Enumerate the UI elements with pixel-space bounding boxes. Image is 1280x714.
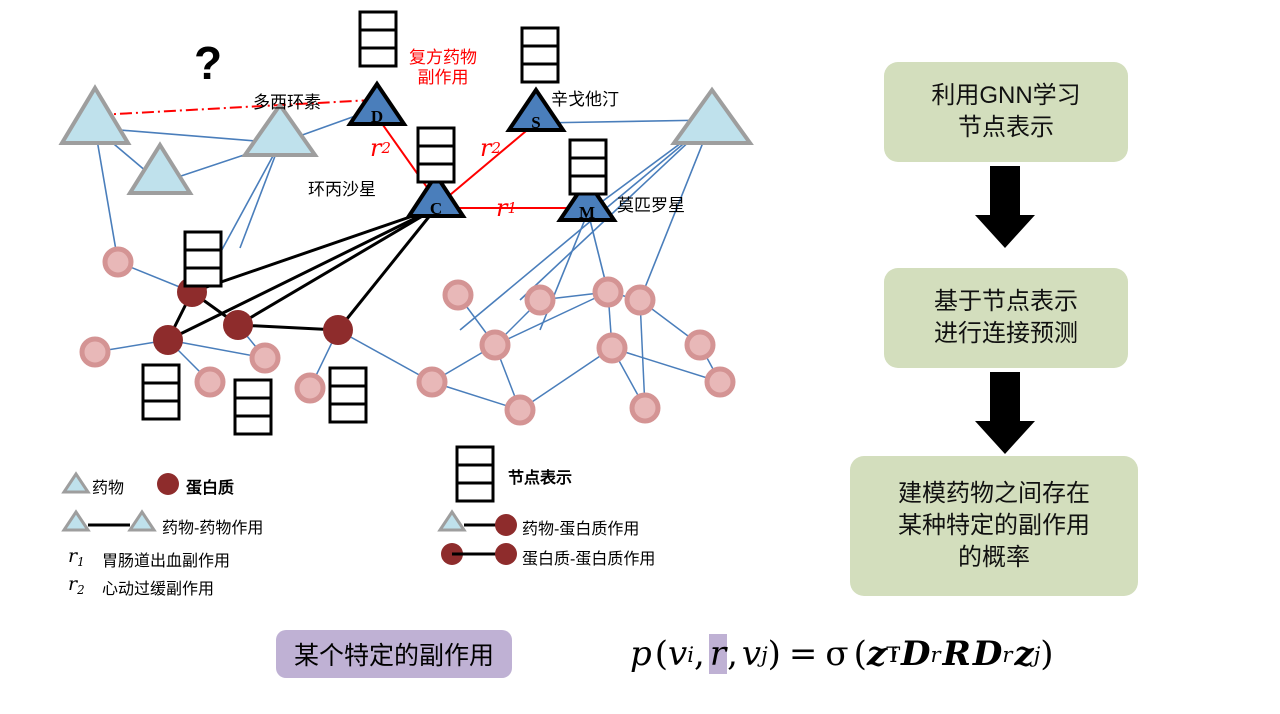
flow-step-model[interactable]: 建模药物之间存在 某种特定的副作用 的概率: [850, 456, 1138, 596]
legend-label-protein: 蛋白质: [186, 474, 234, 498]
circle-dark-red-icon: [495, 543, 517, 565]
down-arrow-icon: [975, 372, 1035, 454]
protein-node-light[interactable]: [82, 339, 108, 365]
circle-dark-red-icon: [495, 514, 517, 536]
stacked-box-icon: [235, 380, 271, 434]
probability-formula: p ( vi , r , vj ) = σ ( zTi Dr R Dr zj ): [630, 634, 1054, 674]
flow-step-predict[interactable]: 基于节点表示 进行连接预测: [884, 268, 1128, 368]
protein-node-light[interactable]: [507, 397, 533, 423]
protein-node-light[interactable]: [707, 369, 733, 395]
legend-label-r2: 心动过缓副作用: [102, 575, 214, 599]
legend-label-drug-protein: 药物-蛋白质作用: [522, 515, 639, 539]
drug-label-mupirocin: 莫匹罗星: [617, 196, 685, 216]
edge-label-r2-dc: r2: [370, 134, 391, 162]
down-arrow-icon: [975, 166, 1035, 248]
flow-step-learn[interactable]: 利用GNN学习 节点表示: [884, 62, 1128, 162]
triangle-light-icon: [440, 512, 464, 530]
protein-node-light[interactable]: [252, 345, 278, 371]
protein-node-light[interactable]: [297, 375, 323, 401]
combo-side-effect-label: 复方药物 副作用: [409, 48, 477, 87]
drug-label-simvastatin: 辛戈他汀: [551, 90, 619, 110]
legend-label-r1: 胃肠道出血副作用: [102, 547, 230, 571]
drug-node-light[interactable]: [130, 145, 190, 193]
stacked-box-icon: [143, 365, 179, 419]
legend-label-protein-protein: 蛋白质-蛋白质作用: [522, 545, 655, 569]
stacked-box-icon: [360, 12, 396, 66]
protein-node-light[interactable]: [445, 282, 471, 308]
stacked-box-icon: [185, 232, 221, 286]
protein-node-light[interactable]: [527, 287, 553, 313]
stacked-box-icon: [418, 128, 454, 182]
protein-node-light[interactable]: [627, 287, 653, 313]
combo-side-effect-line2: 副作用: [409, 68, 477, 88]
diagram-canvas: D S C M: [0, 0, 1280, 714]
protein-node-light[interactable]: [197, 369, 223, 395]
legend-label-drug: 药物: [92, 474, 124, 498]
drug-node-light[interactable]: [674, 90, 750, 143]
stacked-box-icon: [522, 28, 558, 82]
combo-side-effect-line1: 复方药物: [409, 48, 477, 68]
drug-label-doxycycline: 多西环素: [253, 93, 321, 113]
legend-label-node-representation: 节点表示: [508, 464, 572, 488]
triangle-light-icon: [130, 512, 154, 530]
specific-side-effect-chip[interactable]: 某个特定的副作用: [276, 630, 512, 678]
protein-node-light[interactable]: [419, 369, 445, 395]
protein-node-light[interactable]: [595, 279, 621, 305]
stacked-box-icon: [330, 368, 366, 422]
protein-node-light[interactable]: [687, 332, 713, 358]
stacked-box-icon: [457, 447, 493, 501]
svg-text:D: D: [371, 107, 383, 126]
svg-text:C: C: [430, 199, 442, 218]
protein-node-light[interactable]: [105, 249, 131, 275]
triangle-light-icon: [64, 474, 88, 492]
protein-node-light[interactable]: [599, 335, 625, 361]
legend-symbol-r1: r1: [68, 545, 85, 569]
protein-node-light[interactable]: [632, 395, 658, 421]
protein-node-dark[interactable]: [223, 310, 253, 340]
protein-node-dark[interactable]: [323, 315, 353, 345]
svg-text:S: S: [531, 113, 540, 132]
formula-r-highlight: r: [709, 634, 727, 674]
legend-symbol-r2: r2: [68, 573, 85, 597]
legend-label-drug-drug: 药物-药物作用: [162, 514, 263, 538]
svg-text:M: M: [579, 203, 595, 222]
drug-label-ciprofloxacin: 环丙沙星: [308, 180, 376, 200]
triangle-light-icon: [64, 512, 88, 530]
circle-dark-red-icon: [157, 473, 179, 495]
predicted-edge-dashed: [98, 100, 372, 115]
drug-nodes-light: [62, 88, 750, 193]
stacked-box-icon: [570, 140, 606, 194]
drug-node-light[interactable]: [62, 88, 128, 143]
edge-label-r1-cm: r1: [496, 194, 517, 222]
protein-node-light[interactable]: [482, 332, 508, 358]
question-mark: ?: [194, 36, 222, 90]
edge-label-r2-sc: r2: [480, 134, 501, 162]
protein-node-dark[interactable]: [153, 325, 183, 355]
